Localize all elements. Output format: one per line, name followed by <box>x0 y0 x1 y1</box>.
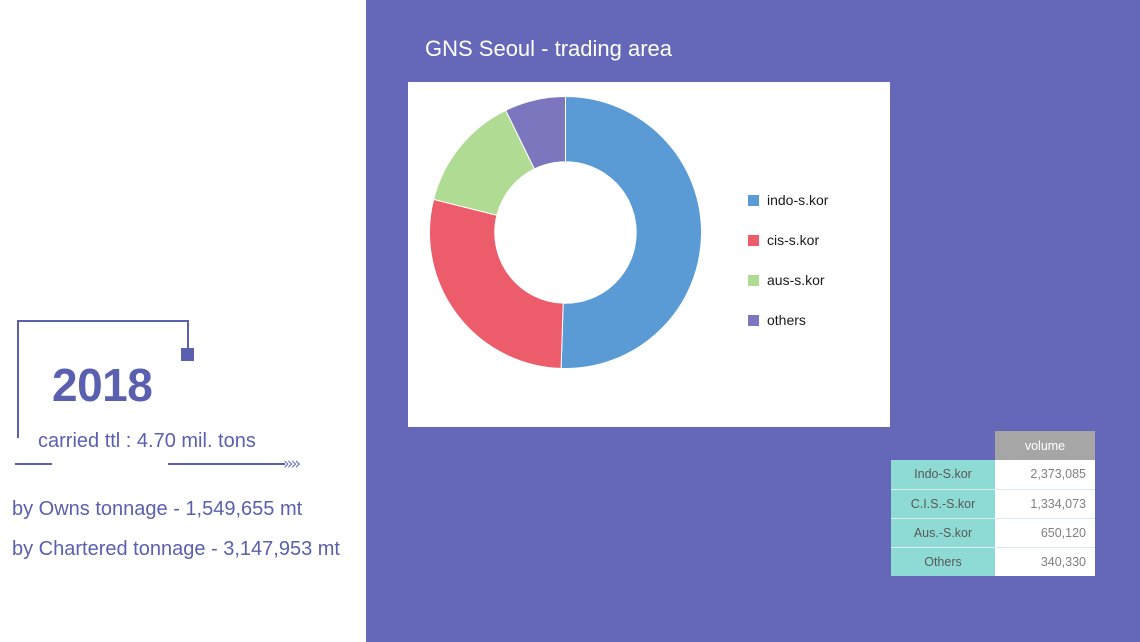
table-cell-name: Indo-S.kor <box>891 460 995 489</box>
legend-item-label: others <box>767 312 806 328</box>
bracket-vertical-line <box>17 320 19 438</box>
legend-item-label: aus-s.kor <box>767 272 825 288</box>
volume-table-body: Indo-S.kor 2,373,085 C.I.S.-S.kor 1,334,… <box>891 460 1095 576</box>
volume-table-head: volume <box>891 431 1095 460</box>
table-row: C.I.S.-S.kor 1,334,073 <box>891 489 1095 518</box>
legend-item[interactable]: indo-s.kor <box>748 180 883 220</box>
year-label: 2018 <box>52 362 152 408</box>
legend-item[interactable]: aus-s.kor <box>748 260 883 300</box>
table-row: Indo-S.kor 2,373,085 <box>891 460 1095 489</box>
legend-item[interactable]: others <box>748 300 883 340</box>
table-cell-name: Others <box>891 547 995 576</box>
rule-long-segment <box>168 463 285 465</box>
table-cell-volume: 340,330 <box>995 547 1095 576</box>
table-row: Aus.-S.kor 650,120 <box>891 518 1095 547</box>
table-header-row: volume <box>891 431 1095 460</box>
legend-item-label: indo-s.kor <box>767 192 828 208</box>
donut-slice-cis-s.kor[interactable] <box>430 199 564 368</box>
table-cell-name: Aus.-S.kor <box>891 518 995 547</box>
chevron-right-icon: ›››› <box>283 456 298 472</box>
donut-slice-group <box>430 97 702 369</box>
table-cell-volume: 2,373,085 <box>995 460 1095 489</box>
bracket-horizontal-line <box>17 320 189 322</box>
decorative-rule-group: ›››› <box>15 455 325 473</box>
table-cell-name: C.I.S.-S.kor <box>891 489 995 518</box>
legend-swatch-icon <box>748 195 759 206</box>
chartered-tonnage-label: by Chartered tonnage - 3,147,953 mt <box>12 538 340 561</box>
table-header-blank <box>891 431 995 460</box>
chart-title: GNS Seoul - trading area <box>425 36 672 62</box>
legend-item-label: cis-s.kor <box>767 232 819 248</box>
table-row: Others 340,330 <box>891 547 1095 576</box>
table-cell-volume: 650,120 <box>995 518 1095 547</box>
donut-slice-indo-s.kor[interactable] <box>561 97 701 369</box>
legend-item[interactable]: cis-s.kor <box>748 220 883 260</box>
chart-legend: indo-s.kor cis-s.kor aus-s.kor others <box>748 180 883 340</box>
left-white-panel: 2018 carried ttl : 4.70 mil. tons ›››› b… <box>0 0 366 642</box>
table-header-volume: volume <box>995 431 1095 460</box>
carried-total-label: carried ttl : 4.70 mil. tons <box>38 430 256 453</box>
legend-swatch-icon <box>748 315 759 326</box>
legend-swatch-icon <box>748 275 759 286</box>
volume-table-grid: volume Indo-S.kor 2,373,085 C.I.S.-S.kor… <box>891 431 1095 576</box>
donut-chart-svg <box>428 95 703 370</box>
slide-canvas: 2018 carried ttl : 4.70 mil. tons ›››› b… <box>0 0 1140 642</box>
volume-table: volume Indo-S.kor 2,373,085 C.I.S.-S.kor… <box>886 427 1099 568</box>
bracket-square-marker <box>181 348 194 361</box>
table-cell-volume: 1,334,073 <box>995 489 1095 518</box>
legend-swatch-icon <box>748 235 759 246</box>
chart-card: indo-s.kor cis-s.kor aus-s.kor others <box>408 82 890 427</box>
rule-short-segment <box>15 463 52 465</box>
owns-tonnage-label: by Owns tonnage - 1,549,655 mt <box>12 498 302 521</box>
donut-chart <box>428 95 703 370</box>
